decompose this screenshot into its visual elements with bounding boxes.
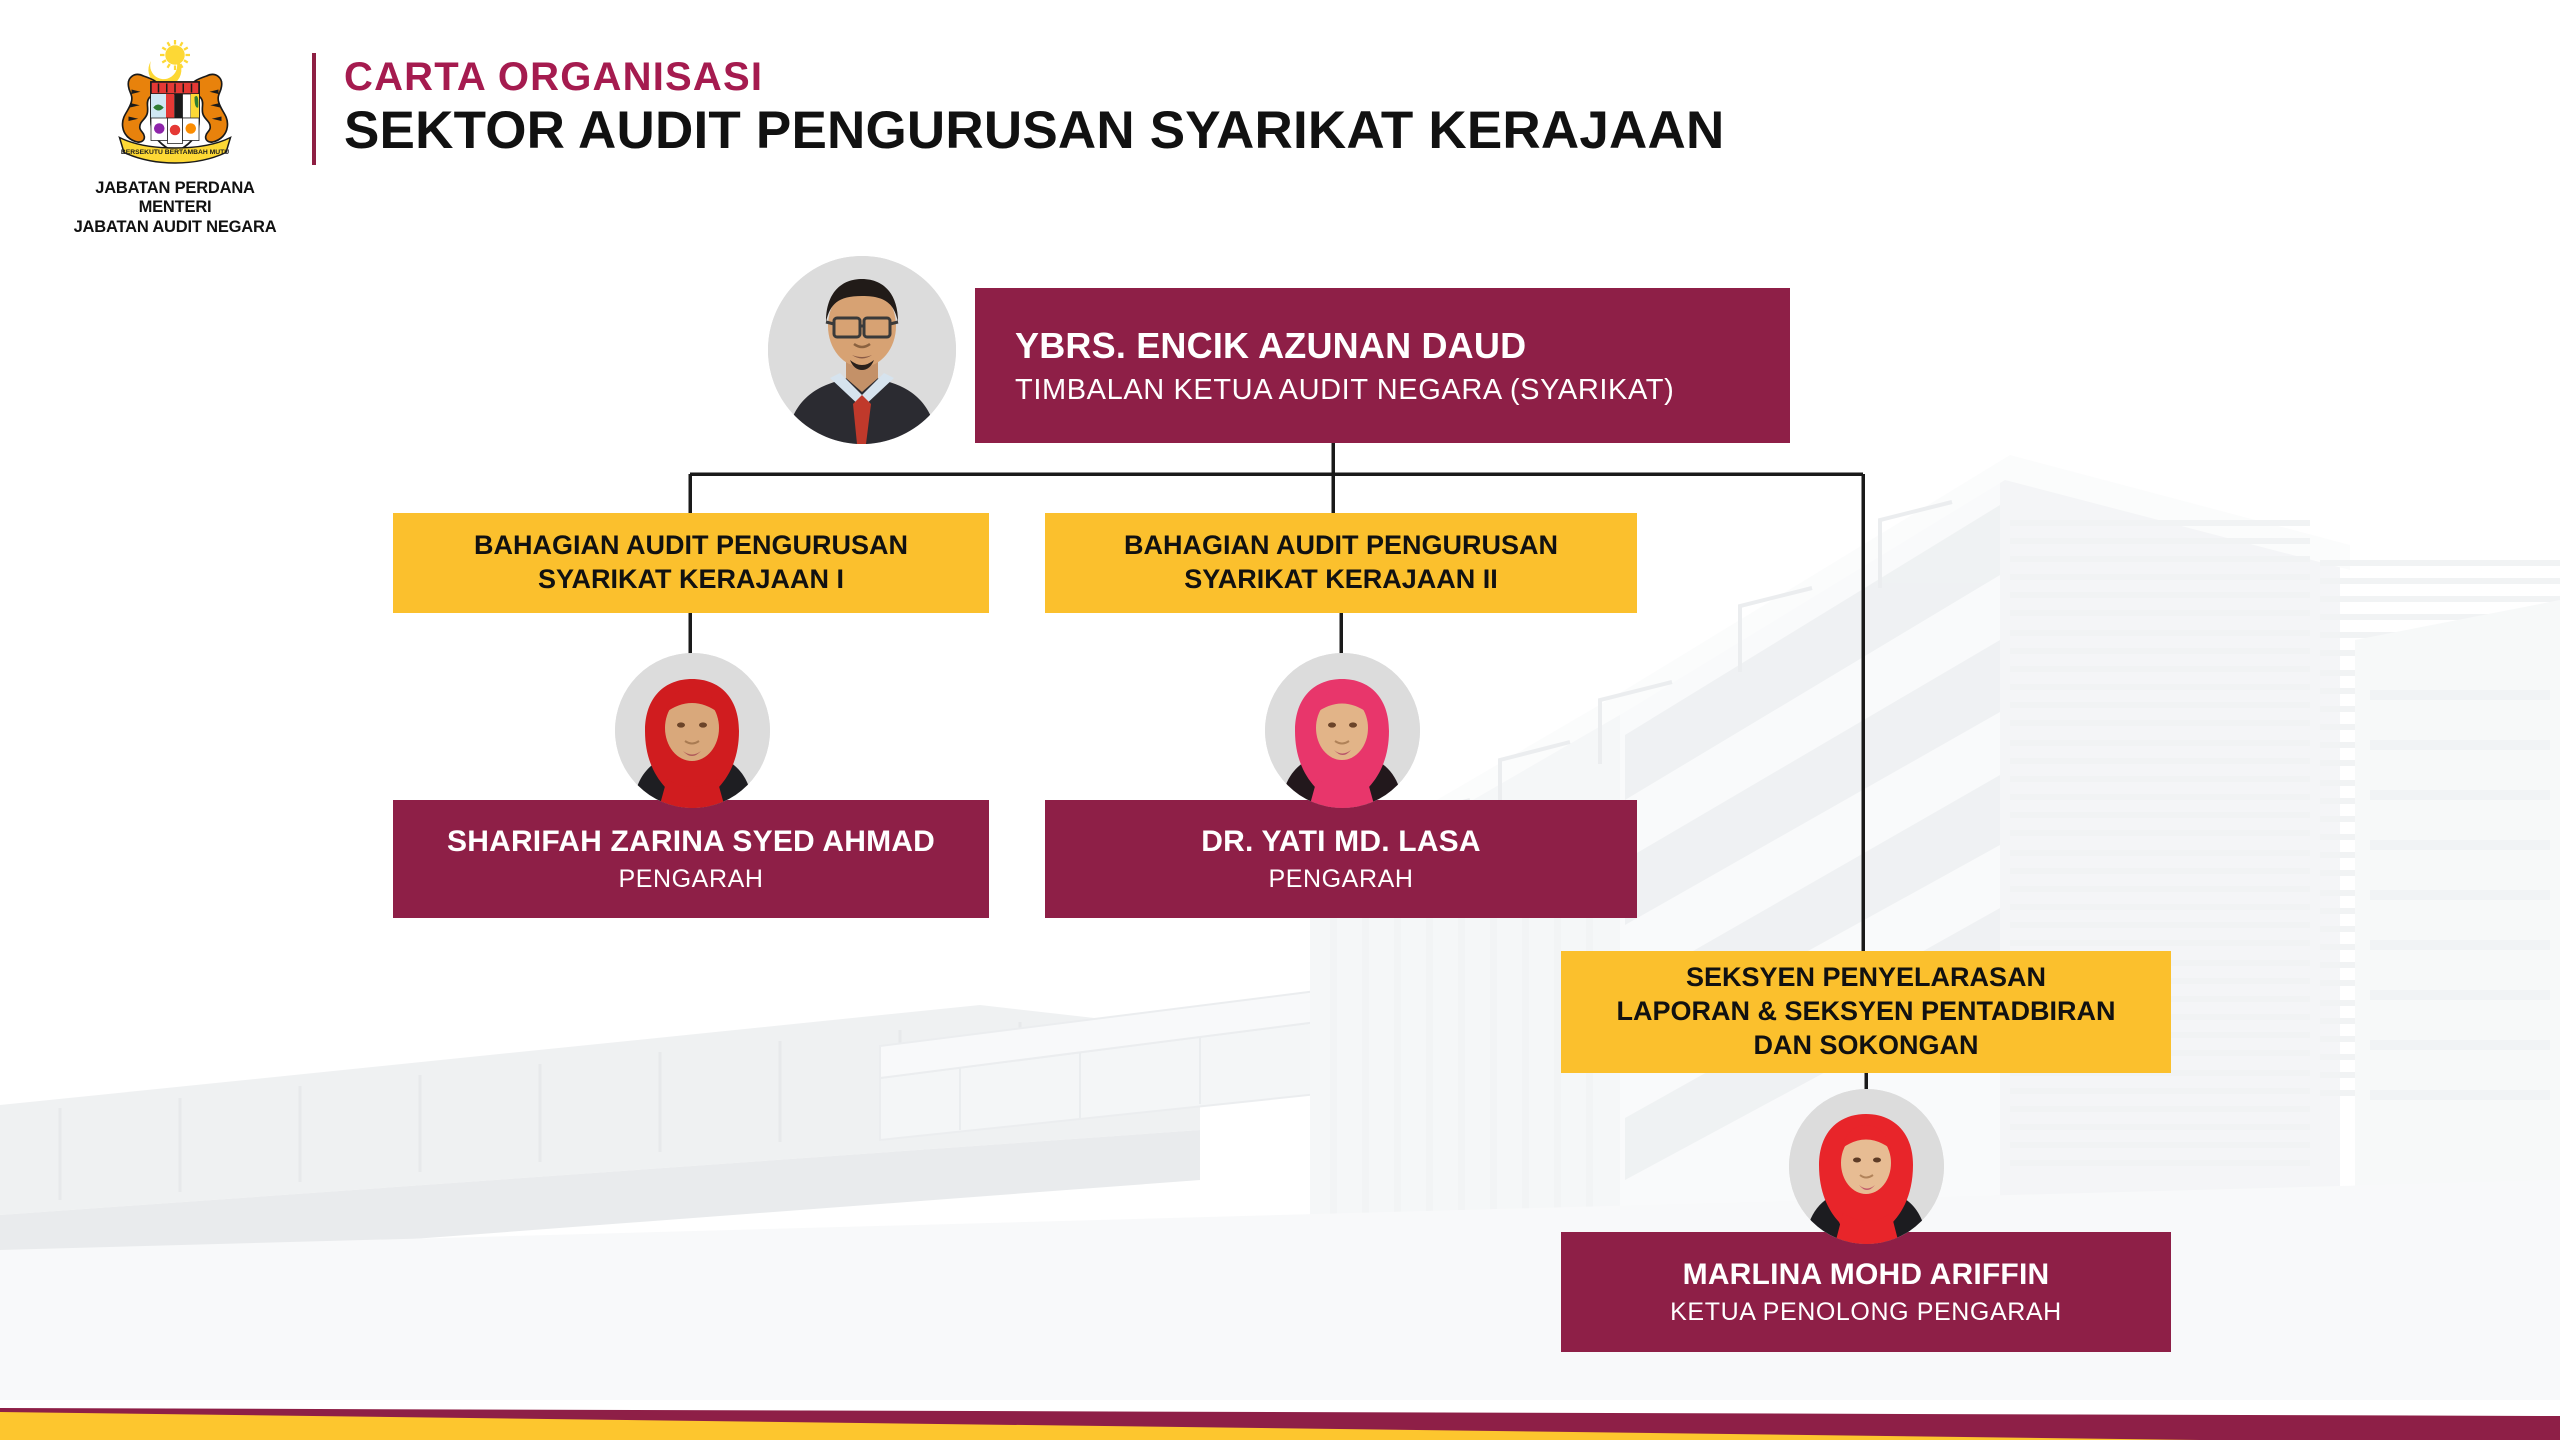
division-box-bahagian-2[interactable]: BAHAGIAN AUDIT PENGURUSAN SYARIKAT KERAJ…: [1045, 513, 1637, 613]
node-role: PENGARAH: [618, 865, 763, 894]
emblem-caption-line-1: JABATAN PERDANA MENTERI: [60, 179, 290, 218]
emblem-caption-line-2: JABATAN AUDIT NEGARA: [60, 218, 290, 237]
division-label-line-1: BAHAGIAN AUDIT PENGURUSAN: [474, 529, 908, 563]
division-label: BAHAGIAN AUDIT PENGURUSAN SYARIKAT KERAJ…: [1124, 529, 1558, 597]
svg-text:BERSEKUTU BERTAMBAH MUTU: BERSEKUTU BERTAMBAH MUTU: [121, 149, 229, 156]
title-block: CARTA ORGANISASI SEKTOR AUDIT PENGURUSAN…: [344, 57, 1724, 159]
organization-chart-page: BERSEKUTU BERTAMBAH MUTU JABATAN PERDANA…: [0, 0, 2560, 1440]
avatar-azunan-daud: [768, 256, 956, 444]
node-card-sharifah-zarina-syed-ahmad[interactable]: SHARIFAH ZARINA SYED AHMAD PENGARAH: [393, 800, 989, 918]
node-card-yati-md-lasa[interactable]: DR. YATI MD. LASA PENGARAH: [1045, 800, 1637, 918]
malaysia-coat-of-arms-icon: BERSEKUTU BERTAMBAH MUTU: [90, 25, 260, 175]
page-subtitle: CARTA ORGANISASI: [344, 57, 1724, 97]
division-label-line-2: SYARIKAT KERAJAAN II: [1124, 563, 1558, 597]
division-label-line-1: SEKSYEN PENYELARASAN: [1616, 961, 2115, 995]
page-title: SEKTOR AUDIT PENGURUSAN SYARIKAT KERAJAA…: [344, 103, 1724, 159]
node-name: YBRS. ENCIK AZUNAN DAUD: [1015, 325, 1790, 367]
division-label-line-3: DAN SOKONGAN: [1616, 1029, 2115, 1063]
avatar-sharifah-zarina-syed-ahmad: [615, 653, 770, 808]
division-label-line-2: SYARIKAT KERAJAAN I: [474, 563, 908, 597]
node-role: TIMBALAN KETUA AUDIT NEGARA (SYARIKAT): [1015, 374, 1790, 407]
node-name: DR. YATI MD. LASA: [1201, 825, 1481, 859]
node-card-marlina-mohd-ariffin[interactable]: MARLINA MOHD ARIFFIN KETUA PENOLONG PENG…: [1561, 1232, 2171, 1352]
division-label: BAHAGIAN AUDIT PENGURUSAN SYARIKAT KERAJ…: [474, 529, 908, 597]
node-card-deputy-auditor-general[interactable]: YBRS. ENCIK AZUNAN DAUD TIMBALAN KETUA A…: [975, 288, 1790, 443]
division-box-bahagian-1[interactable]: BAHAGIAN AUDIT PENGURUSAN SYARIKAT KERAJ…: [393, 513, 989, 613]
footer-band: [0, 1400, 2560, 1440]
node-role: KETUA PENOLONG PENGARAH: [1670, 1298, 2062, 1327]
node-name: SHARIFAH ZARINA SYED AHMAD: [447, 825, 935, 859]
header-divider: [312, 53, 316, 165]
emblem-caption: JABATAN PERDANA MENTERI JABATAN AUDIT NE…: [60, 179, 290, 237]
page-header: BERSEKUTU BERTAMBAH MUTU JABATAN PERDANA…: [60, 25, 1724, 237]
emblem-block: BERSEKUTU BERTAMBAH MUTU JABATAN PERDANA…: [60, 25, 290, 237]
avatar-marlina-mohd-ariffin: [1789, 1089, 1944, 1244]
node-role: PENGARAH: [1268, 865, 1413, 894]
division-box-seksyen-penyelarasan[interactable]: SEKSYEN PENYELARASAN LAPORAN & SEKSYEN P…: [1561, 951, 2171, 1073]
division-label: SEKSYEN PENYELARASAN LAPORAN & SEKSYEN P…: [1616, 961, 2115, 1062]
division-label-line-2: LAPORAN & SEKSYEN PENTADBIRAN: [1616, 995, 2115, 1029]
avatar-yati-md-lasa: [1265, 653, 1420, 808]
node-name: MARLINA MOHD ARIFFIN: [1683, 1258, 2050, 1292]
division-label-line-1: BAHAGIAN AUDIT PENGURUSAN: [1124, 529, 1558, 563]
